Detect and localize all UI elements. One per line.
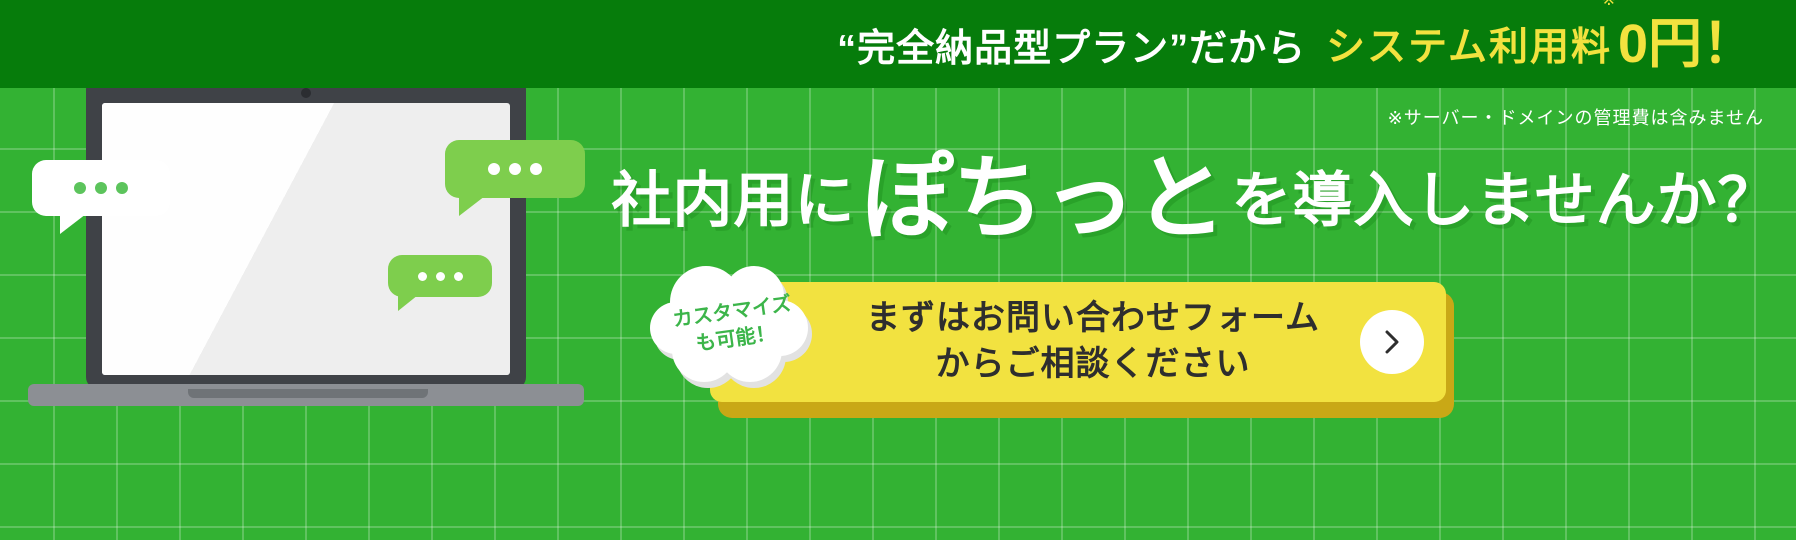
chat-bubble-left <box>32 160 170 216</box>
bubble-dot <box>418 272 427 281</box>
promo-banner: “完全納品型プラン”だから システム利用料 ※ 0円！ ※サーバー・ドメインの管… <box>0 0 1796 540</box>
price-zero-yen: 0円！ <box>1618 17 1756 71</box>
webcam-icon <box>301 88 311 98</box>
bubble-tail <box>398 295 418 311</box>
bubble-tail <box>60 214 86 234</box>
bubble-dot <box>436 272 445 281</box>
bubble-dot <box>116 182 128 194</box>
headline: 社内用に ぽちっと を導入しませんか？ <box>610 145 1780 245</box>
disclaimer-text: ※サーバー・ドメインの管理費は含みません <box>1388 104 1764 130</box>
laptop-lid <box>86 77 526 389</box>
cta-line-1: まずはお問い合わせフォーム <box>866 296 1320 342</box>
headline-prefix: 社内用に <box>611 152 855 239</box>
laptop-illustration <box>28 72 588 422</box>
laptop-base-notch <box>188 389 428 398</box>
cta-button-label: まずはお問い合わせフォーム からご相談ください <box>836 296 1320 388</box>
headline-brand-name: ぽちっと <box>861 158 1225 241</box>
bubble-dot <box>454 272 463 281</box>
top-bar-content: “完全納品型プラン”だから システム利用料 ※ 0円！ <box>837 16 1756 72</box>
system-fee-label: システム利用料 <box>1326 26 1612 69</box>
chevron-right-icon[interactable] <box>1360 310 1424 374</box>
bubble-dot <box>95 182 107 194</box>
bubble-dot <box>74 182 86 194</box>
bubble-dot <box>509 163 521 175</box>
top-highlight-bar: “完全納品型プラン”だから システム利用料 ※ 0円！ <box>0 0 1796 88</box>
system-fee-label-wrap: システム利用料 ※ <box>1312 16 1612 72</box>
chat-bubble-bottom <box>388 255 492 297</box>
customize-cloud-badge: カスタマイズ も可能！ <box>650 262 818 390</box>
bubble-dot <box>488 163 500 175</box>
chat-bubble-top-right <box>445 140 585 198</box>
cta-line-2: からご相談ください <box>866 342 1320 388</box>
headline-suffix: を導入しませんか？ <box>1231 152 1778 239</box>
plan-quote-text: “完全納品型プラン”だから <box>837 17 1306 72</box>
asterisk-note-icon: ※ <box>1602 0 1616 10</box>
customize-badge-text: カスタマイズ も可能！ <box>642 251 826 401</box>
bubble-tail <box>459 196 485 216</box>
bubble-dot <box>530 163 542 175</box>
